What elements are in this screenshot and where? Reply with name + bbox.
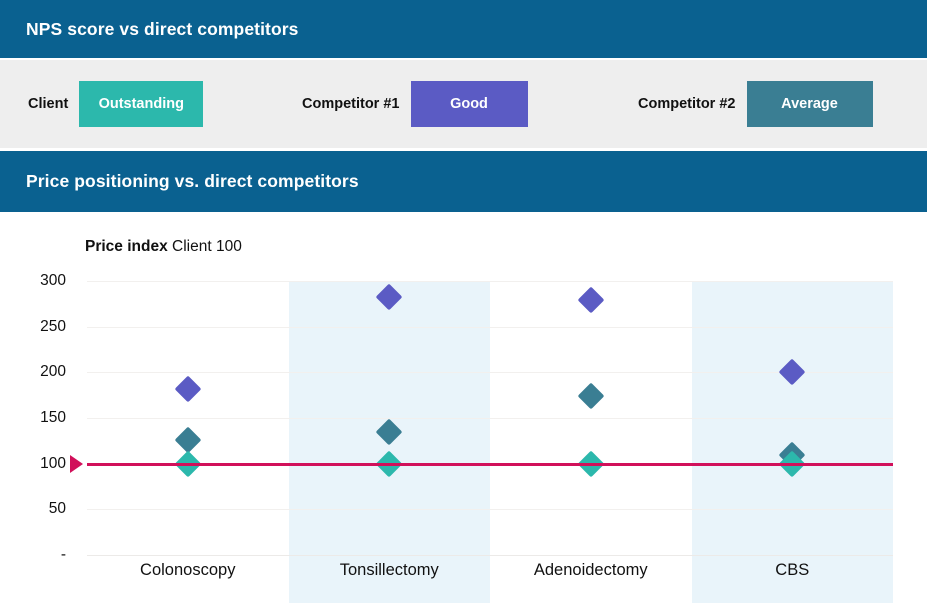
price-section-header: Price positioning vs. direct competitors [0, 151, 927, 212]
nps-legend-strip: Client Outstanding Competitor #1 Good Co… [0, 60, 927, 148]
gridline [87, 327, 893, 328]
legend-entry-competitor-2: Competitor #2 Average [638, 60, 873, 148]
price-positioning-dashboard: NPS score vs direct competitors Client O… [0, 0, 927, 603]
nps-badge-client: Outstanding [79, 81, 203, 127]
legend-label-competitor-2: Competitor #2 [638, 96, 736, 112]
gridline [87, 509, 893, 510]
y-axis-tick-label: 200 [14, 363, 66, 381]
x-axis-category-label: CBS [692, 561, 894, 580]
x-axis-category-label: Tonsillectomy [289, 561, 491, 580]
nps-section-header: NPS score vs direct competitors [0, 0, 927, 58]
x-axis-category-label: Adenoidectomy [490, 561, 692, 580]
gridline [87, 372, 893, 373]
client-reference-line [87, 463, 893, 466]
chart-subtitle-rest: Client 100 [168, 238, 242, 255]
y-axis: 30025020015010050- [0, 281, 66, 555]
gridline [87, 418, 893, 419]
y-axis-tick-label: 300 [14, 272, 66, 290]
chart-subtitle-strong: Price index [85, 238, 168, 255]
chart-subtitle: Price index Client 100 [85, 238, 242, 256]
legend-label-client: Client [28, 96, 68, 112]
x-axis-category-label: Colonoscopy [87, 561, 289, 580]
y-axis-tick-label: 250 [14, 318, 66, 336]
nps-section-title: NPS score vs direct competitors [26, 19, 299, 40]
legend-label-competitor-1: Competitor #1 [302, 96, 400, 112]
price-index-chart: Price index Client 100 30025020015010050… [0, 212, 927, 603]
data-point-diamond [174, 375, 201, 402]
data-point-diamond [577, 287, 604, 314]
y-axis-tick-label: 150 [14, 409, 66, 427]
nps-badge-competitor-2: Average [747, 81, 873, 127]
data-point-diamond [174, 426, 201, 453]
data-point-diamond [577, 383, 604, 410]
price-section-title: Price positioning vs. direct competitors [26, 171, 359, 192]
gridline [87, 281, 893, 282]
y-axis-tick-label: - [14, 546, 66, 564]
legend-entry-client: Client Outstanding [28, 60, 203, 148]
legend-entry-competitor-1: Competitor #1 Good [302, 60, 528, 148]
nps-badge-competitor-1: Good [411, 81, 528, 127]
reference-line-arrow-icon [70, 455, 83, 473]
plot-area [87, 281, 893, 555]
y-axis-tick-label: 100 [14, 455, 66, 473]
y-axis-tick-label: 50 [14, 500, 66, 518]
